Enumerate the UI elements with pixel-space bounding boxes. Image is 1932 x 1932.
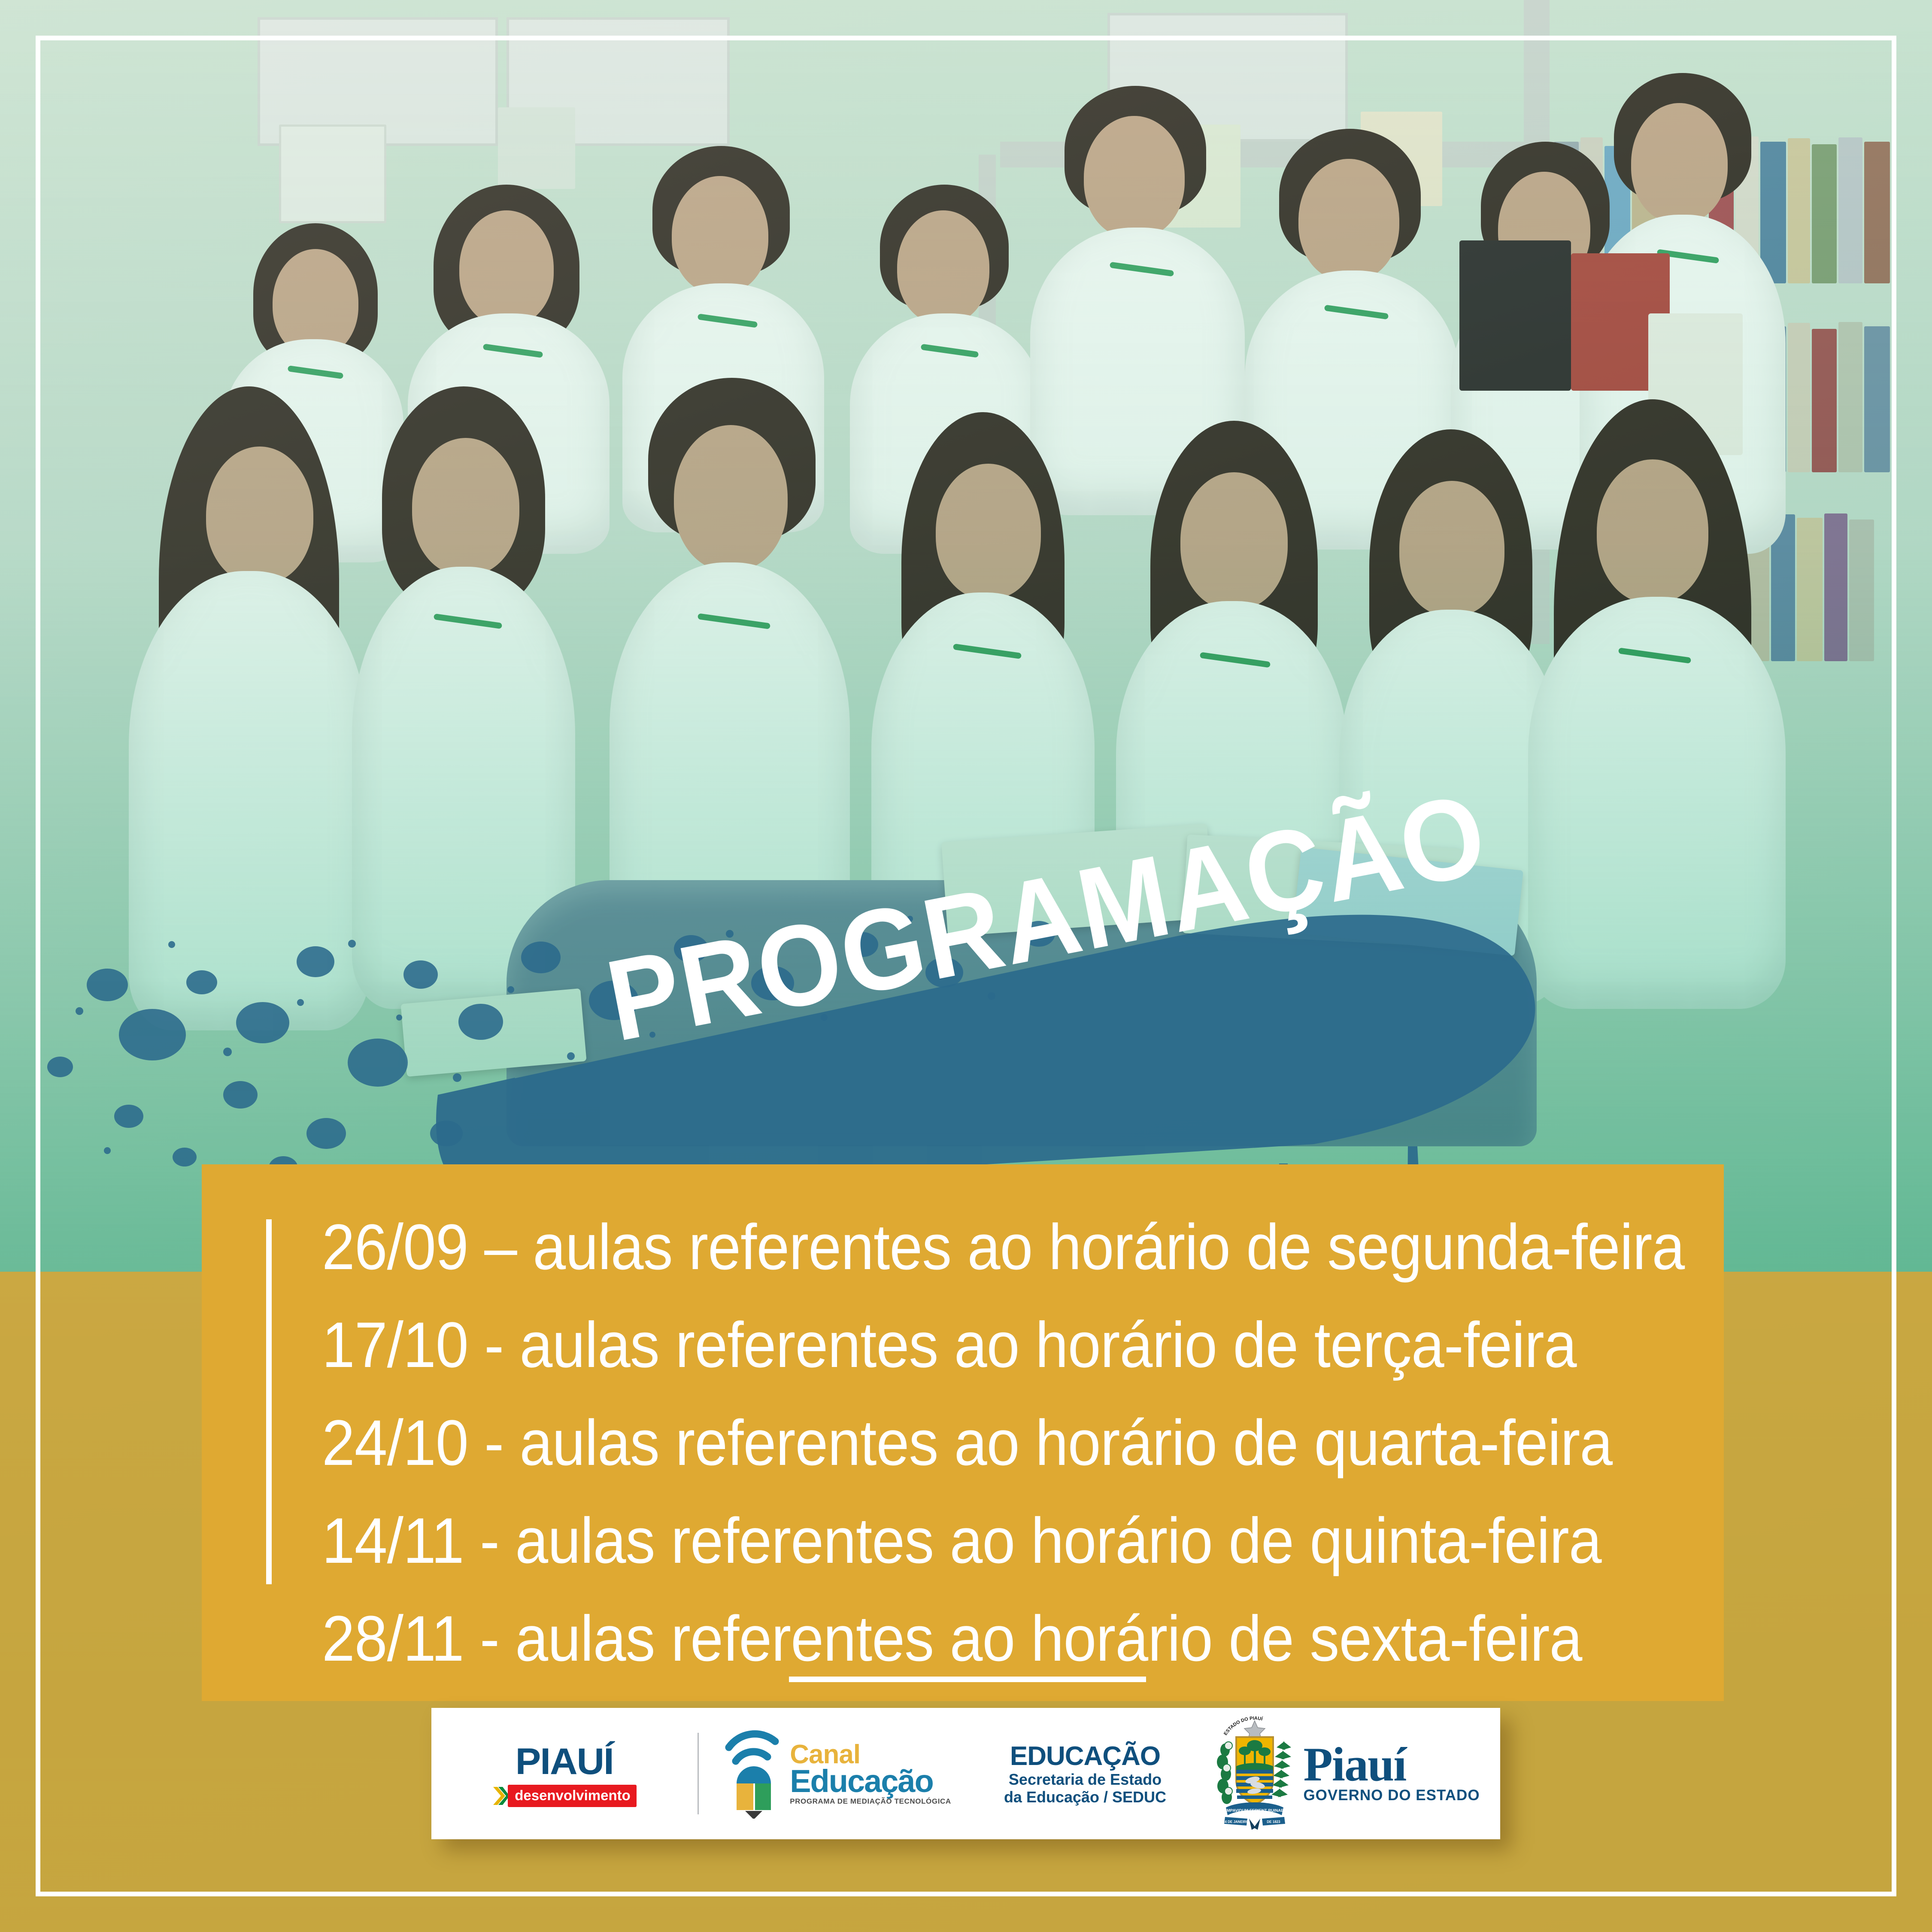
governo-tagline: GOVERNO DO ESTADO	[1303, 1787, 1480, 1804]
list-item: 28/11 - aulas referentes ao horário de s…	[322, 1589, 1625, 1687]
list-item: 24/10 - aulas referentes ao horário de q…	[322, 1394, 1625, 1492]
logo-piaui-desenvolvimento: PIAUÍ desenvolvimento	[431, 1708, 698, 1839]
poster-root: PROGRAMAÇÃO 26/09 – aulas referentes ao …	[0, 0, 1932, 1932]
logo-canal-educacao: Canal Educação PROGRAMA DE MEDIAÇÃO TECN…	[699, 1708, 974, 1839]
crest-date-right-text: DE 1823	[1267, 1820, 1281, 1824]
vertical-divider	[266, 1219, 272, 1584]
list-item: 17/10 - aulas referentes ao horário de t…	[322, 1296, 1625, 1394]
seduc-line3: da Educação / SEDUC	[1004, 1789, 1166, 1806]
governo-wordmark: Piauí	[1303, 1743, 1480, 1786]
horizontal-divider	[789, 1677, 1146, 1682]
logo-seduc: EDUCAÇÃO Secretaria de Estado da Educaçã…	[974, 1708, 1197, 1839]
crest-motto-text: IMPAVIDUM FERIENT RUINAE	[1226, 1808, 1284, 1813]
seduc-line2: Secretaria de Estado	[1009, 1771, 1162, 1788]
footer-logo-bar: PIAUÍ desenvolvimento	[431, 1708, 1500, 1839]
canal-line2: Educação	[790, 1767, 951, 1796]
piaui-dev-tagline: desenvolvimento	[508, 1785, 637, 1807]
piaui-dev-wordmark: PIAUÍ	[516, 1741, 613, 1783]
chevron-icon	[492, 1786, 510, 1806]
canal-line3: PROGRAMA DE MEDIAÇÃO TECNOLÓGICA	[790, 1798, 951, 1805]
schedule-list: 26/09 – aulas referentes ao horário de s…	[322, 1198, 1738, 1687]
logo-governo-do-estado: ESTADO DO PIAUÍ	[1197, 1708, 1493, 1839]
wifi-pencil-icon	[721, 1728, 786, 1819]
list-item: 14/11 - aulas referentes ao horário de q…	[322, 1492, 1625, 1589]
list-item: 26/09 – aulas referentes ao horário de s…	[322, 1198, 1625, 1296]
piaui-coat-of-arms-icon: ESTADO DO PIAUÍ	[1210, 1716, 1300, 1832]
crest-date-left-text: 24 DE JANEIRO	[1223, 1820, 1249, 1824]
seduc-line1: EDUCAÇÃO	[1010, 1741, 1160, 1771]
